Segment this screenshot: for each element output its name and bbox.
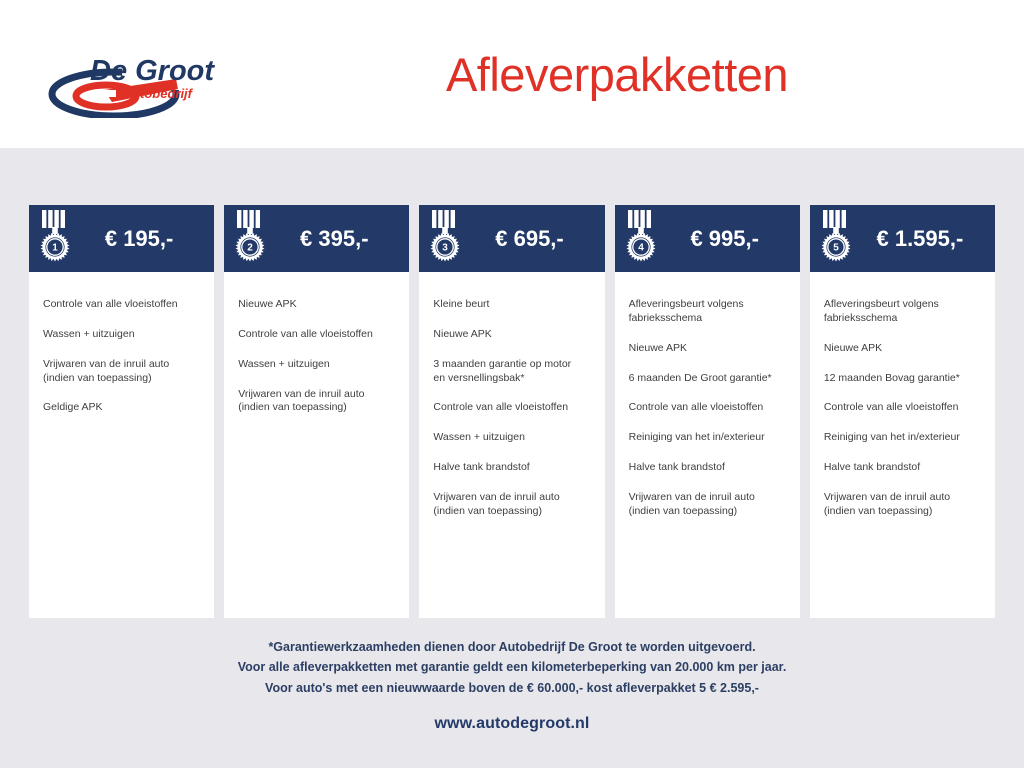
package-feature-list: Controle van alle vloeistoffenWassen + u… — [29, 272, 214, 618]
package-feature: Afleveringsbeurt volgensfabrieksschema — [824, 298, 981, 326]
package-cards: 1 € 195,-Controle van alle vloeistoffenW… — [29, 205, 995, 618]
package-feature: Wassen + uitzuigen — [238, 358, 395, 372]
package-card-header: 5 € 1.595,- — [810, 205, 995, 272]
package-card-2[interactable]: 2 € 395,-Nieuwe APKControle van alle vlo… — [224, 205, 409, 618]
package-feature-line: Vrijwaren van de inruil auto — [433, 491, 590, 505]
package-feature-line: Halve tank brandstof — [824, 461, 981, 475]
package-feature-line: Controle van alle vloeistoffen — [433, 401, 590, 415]
package-feature: Controle van alle vloeistoffen — [433, 401, 590, 415]
package-feature-line: Halve tank brandstof — [629, 461, 786, 475]
package-feature-line: Reiniging van het in/exterieur — [824, 431, 981, 445]
footer-note-line: Voor alle afleverpakketten met garantie … — [0, 657, 1024, 677]
package-feature-list: Nieuwe APKControle van alle vloeistoffen… — [224, 272, 409, 618]
package-feature: Vrijwaren van de inruil auto(indien van … — [629, 491, 786, 519]
svg-text:3: 3 — [443, 242, 449, 253]
svg-text:5: 5 — [833, 242, 839, 253]
package-feature-line: 3 maanden garantie op motor — [433, 358, 590, 372]
package-feature: Reiniging van het in/exterieur — [824, 431, 981, 445]
package-price: € 1.595,- — [853, 226, 995, 252]
package-card-5[interactable]: 5 € 1.595,-Afleveringsbeurt volgensfabri… — [810, 205, 995, 618]
package-price: € 395,- — [267, 226, 409, 252]
package-feature-line: (indien van toepassing) — [433, 505, 590, 519]
package-feature: Nieuwe APK — [824, 342, 981, 356]
package-feature-line: (indien van toepassing) — [43, 372, 200, 386]
package-price: € 695,- — [462, 226, 604, 252]
svg-text:2: 2 — [247, 242, 253, 253]
page-title: Afleverpakketten — [0, 48, 1024, 102]
package-feature-line: Reiniging van het in/exterieur — [629, 431, 786, 445]
package-feature-line: Vrijwaren van de inruil auto — [629, 491, 786, 505]
package-card-header: 2 € 395,- — [224, 205, 409, 272]
footer-note-line: Voor auto's met een nieuwwaarde boven de… — [0, 678, 1024, 698]
package-price: € 195,- — [72, 226, 214, 252]
package-feature-line: (indien van toepassing) — [629, 505, 786, 519]
medal-ribbon-icon: 2 — [233, 209, 267, 267]
package-feature-line: Vrijwaren van de inruil auto — [43, 358, 200, 372]
package-feature: Wassen + uitzuigen — [433, 431, 590, 445]
package-feature-line: Kleine beurt — [433, 298, 590, 312]
package-feature-line: Halve tank brandstof — [433, 461, 590, 475]
package-feature: Vrijwaren van de inruil auto(indien van … — [43, 358, 200, 386]
package-feature: Controle van alle vloeistoffen — [238, 328, 395, 342]
package-feature-line: Controle van alle vloeistoffen — [238, 328, 395, 342]
package-feature-line: Controle van alle vloeistoffen — [629, 401, 786, 415]
package-feature: Halve tank brandstof — [433, 461, 590, 475]
medal-ribbon-icon: 4 — [624, 209, 658, 267]
footer: *Garantiewerkzaamheden dienen door Autob… — [0, 637, 1024, 733]
package-feature: Wassen + uitzuigen — [43, 328, 200, 342]
package-feature-line: Vrijwaren van de inruil auto — [238, 388, 395, 402]
package-feature-line: Afleveringsbeurt volgens — [824, 298, 981, 312]
package-card-header: 1 € 195,- — [29, 205, 214, 272]
package-feature: Kleine beurt — [433, 298, 590, 312]
package-feature-line: Wassen + uitzuigen — [238, 358, 395, 372]
package-feature-line: fabrieksschema — [824, 312, 981, 326]
medal-ribbon-icon: 1 — [38, 209, 72, 267]
package-feature-line: Afleveringsbeurt volgens — [629, 298, 786, 312]
medal-ribbon-icon: 5 — [819, 209, 853, 267]
svg-text:4: 4 — [638, 242, 644, 253]
package-feature-line: (indien van toepassing) — [238, 401, 395, 415]
package-feature: Vrijwaren van de inruil auto(indien van … — [824, 491, 981, 519]
package-feature-line: Geldige APK — [43, 401, 200, 415]
package-feature-list: Afleveringsbeurt volgensfabrieksschemaNi… — [810, 272, 995, 618]
footer-notes: *Garantiewerkzaamheden dienen door Autob… — [0, 637, 1024, 698]
package-feature-list: Kleine beurtNieuwe APK3 maanden garantie… — [419, 272, 604, 618]
package-feature: 3 maanden garantie op motoren versnellin… — [433, 358, 590, 386]
package-feature: Nieuwe APK — [629, 342, 786, 356]
package-feature-line: Controle van alle vloeistoffen — [43, 298, 200, 312]
package-feature-line: en versnellingsbak* — [433, 372, 590, 386]
package-card-4[interactable]: 4 € 995,-Afleveringsbeurt volgensfabriek… — [615, 205, 800, 618]
package-feature-line: Nieuwe APK — [433, 328, 590, 342]
package-card-header: 4 € 995,- — [615, 205, 800, 272]
website-url[interactable]: www.autodegroot.nl — [0, 715, 1024, 733]
package-feature: Nieuwe APK — [433, 328, 590, 342]
package-feature: Controle van alle vloeistoffen — [43, 298, 200, 312]
package-feature: Controle van alle vloeistoffen — [824, 401, 981, 415]
package-feature: Vrijwaren van de inruil auto(indien van … — [433, 491, 590, 519]
package-feature: Controle van alle vloeistoffen — [629, 401, 786, 415]
package-feature: Reiniging van het in/exterieur — [629, 431, 786, 445]
package-feature-line: fabrieksschema — [629, 312, 786, 326]
medal-ribbon-icon: 3 — [428, 209, 462, 267]
package-feature: 6 maanden De Groot garantie* — [629, 372, 786, 386]
package-feature-line: Wassen + uitzuigen — [43, 328, 200, 342]
package-feature-line: (indien van toepassing) — [824, 505, 981, 519]
package-card-header: 3 € 695,- — [419, 205, 604, 272]
package-feature: Vrijwaren van de inruil auto(indien van … — [238, 388, 395, 416]
package-feature-list: Afleveringsbeurt volgensfabrieksschemaNi… — [615, 272, 800, 618]
package-feature-line: Vrijwaren van de inruil auto — [824, 491, 981, 505]
package-feature-line: Controle van alle vloeistoffen — [824, 401, 981, 415]
poster-page: De Groot Autobedrijf Afleverpakketten 1 … — [0, 0, 1024, 768]
package-feature-line: Nieuwe APK — [824, 342, 981, 356]
package-feature-line: 12 maanden Bovag garantie* — [824, 372, 981, 386]
package-feature-line: Nieuwe APK — [238, 298, 395, 312]
package-feature: Afleveringsbeurt volgensfabrieksschema — [629, 298, 786, 326]
package-feature: Nieuwe APK — [238, 298, 395, 312]
package-feature-line: Nieuwe APK — [629, 342, 786, 356]
package-feature-line: 6 maanden De Groot garantie* — [629, 372, 786, 386]
package-feature: Geldige APK — [43, 401, 200, 415]
svg-text:1: 1 — [52, 242, 58, 253]
package-feature-line: Wassen + uitzuigen — [433, 431, 590, 445]
package-card-3[interactable]: 3 € 695,-Kleine beurtNieuwe APK3 maanden… — [419, 205, 604, 618]
package-feature: 12 maanden Bovag garantie* — [824, 372, 981, 386]
package-feature: Halve tank brandstof — [629, 461, 786, 475]
package-price: € 995,- — [658, 226, 800, 252]
package-feature: Halve tank brandstof — [824, 461, 981, 475]
footer-note-line: *Garantiewerkzaamheden dienen door Autob… — [0, 637, 1024, 657]
package-card-1[interactable]: 1 € 195,-Controle van alle vloeistoffenW… — [29, 205, 214, 618]
